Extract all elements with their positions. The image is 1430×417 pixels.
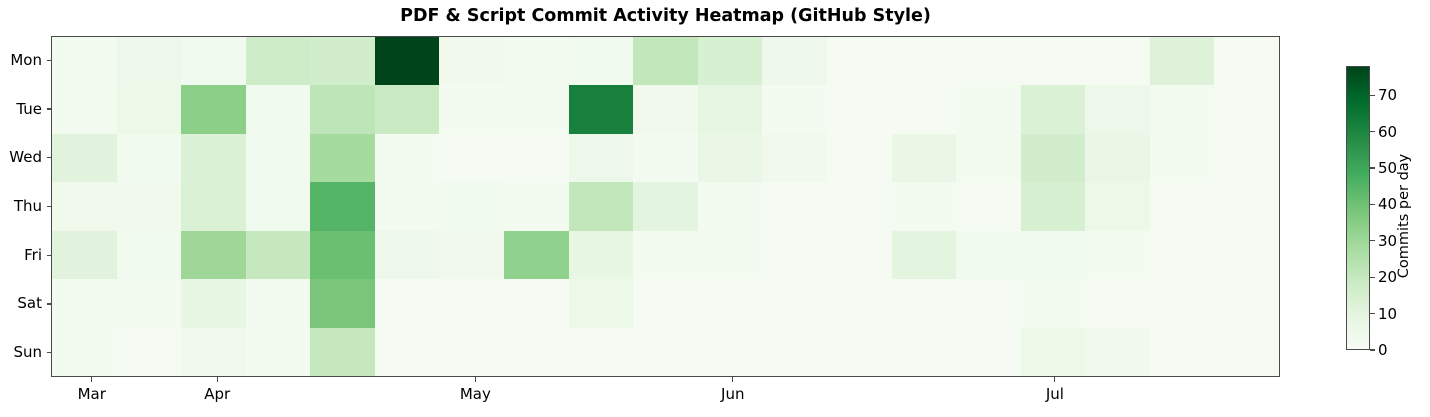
heatmap-cell (956, 37, 1021, 85)
heatmap-cell (569, 182, 634, 230)
heatmap-cell (1214, 182, 1279, 230)
y-tick-label: Wed (9, 150, 51, 165)
heatmap-cell (310, 328, 375, 376)
heatmap-cell (698, 182, 763, 230)
heatmap-cell (504, 328, 569, 376)
heatmap-cell (181, 134, 246, 182)
heatmap-cell (52, 85, 117, 133)
heatmap-cell (504, 182, 569, 230)
heatmap-cell (698, 279, 763, 327)
heatmap-cell (569, 231, 634, 279)
heatmap-cell (117, 328, 182, 376)
heatmap-cell (762, 85, 827, 133)
heatmap-cell (52, 231, 117, 279)
heatmap-cell (633, 37, 698, 85)
heatmap-cell (827, 328, 892, 376)
heatmap-cell (52, 182, 117, 230)
heatmap-cell (439, 231, 504, 279)
heatmap-cell (569, 37, 634, 85)
heatmap-cell (504, 37, 569, 85)
heatmap-cell (117, 85, 182, 133)
heatmap-cell (762, 134, 827, 182)
y-tick-label: Thu (14, 199, 51, 214)
heatmap-cell (698, 231, 763, 279)
heatmap-cell (439, 328, 504, 376)
heatmap-cell (1021, 279, 1086, 327)
colorbar-tick-mark (1370, 131, 1375, 132)
heatmap-cell (1214, 328, 1279, 376)
heatmap-cell (181, 182, 246, 230)
plot-area[interactable] (51, 36, 1280, 377)
heatmap-cell (956, 328, 1021, 376)
heatmap-cell (1085, 134, 1150, 182)
x-tick-mark (1054, 377, 1055, 382)
heatmap-cell (375, 134, 440, 182)
heatmap-cell (310, 37, 375, 85)
heatmap-cell (1085, 328, 1150, 376)
heatmap-cell (1085, 231, 1150, 279)
heatmap-cell (181, 328, 246, 376)
heatmap-cell (956, 231, 1021, 279)
heatmap-cell (117, 279, 182, 327)
heatmap-cell (1150, 182, 1215, 230)
heatmap-cell (633, 182, 698, 230)
x-tick-label: Mar (78, 385, 106, 403)
x-axis: MarAprMayJunJul (51, 377, 1280, 417)
heatmap-cell (504, 134, 569, 182)
heatmap-cell (439, 37, 504, 85)
heatmap-figure: PDF & Script Commit Activity Heatmap (Gi… (0, 0, 1430, 417)
colorbar-tick-mark (1370, 204, 1375, 205)
colorbar-tick-mark (1370, 313, 1375, 314)
heatmap-cell (827, 37, 892, 85)
heatmap-cell (1021, 231, 1086, 279)
heatmap-cell (246, 85, 311, 133)
heatmap-cell (1150, 37, 1215, 85)
colorbar-tick-mark (1370, 240, 1375, 241)
heatmap-grid (52, 37, 1279, 376)
heatmap-cell (375, 37, 440, 85)
heatmap-cell (117, 231, 182, 279)
heatmap-cell (439, 134, 504, 182)
heatmap-cell (569, 328, 634, 376)
heatmap-cell (1085, 279, 1150, 327)
heatmap-cell (956, 182, 1021, 230)
heatmap-cell (569, 134, 634, 182)
heatmap-cell (310, 85, 375, 133)
heatmap-cell (956, 279, 1021, 327)
y-tick-label: Sun (13, 345, 51, 360)
heatmap-cell (827, 85, 892, 133)
colorbar-tick-mark (1370, 349, 1375, 350)
heatmap-cell (1150, 134, 1215, 182)
heatmap-cell (439, 85, 504, 133)
heatmap-cell (633, 328, 698, 376)
heatmap-cell (892, 134, 957, 182)
heatmap-cell (375, 279, 440, 327)
heatmap-cell (246, 328, 311, 376)
heatmap-cell (1021, 85, 1086, 133)
heatmap-cell (310, 231, 375, 279)
colorbar-tick-label: 10 (1378, 305, 1397, 323)
colorbar-axis-label: Commits per day (1396, 154, 1412, 279)
heatmap-cell (375, 182, 440, 230)
heatmap-cell (1214, 231, 1279, 279)
heatmap-cell (439, 182, 504, 230)
heatmap-cell (375, 85, 440, 133)
heatmap-cell (1150, 231, 1215, 279)
heatmap-cell (892, 182, 957, 230)
heatmap-cell (827, 134, 892, 182)
colorbar-tick-label: 70 (1378, 86, 1397, 104)
heatmap-cell (246, 37, 311, 85)
heatmap-cell (1021, 182, 1086, 230)
heatmap-cell (633, 279, 698, 327)
heatmap-cell (1214, 85, 1279, 133)
heatmap-cell (1214, 37, 1279, 85)
colorbar-gradient (1346, 66, 1370, 350)
heatmap-cell (504, 231, 569, 279)
heatmap-cell (1214, 134, 1279, 182)
heatmap-cell (181, 279, 246, 327)
heatmap-cell (439, 279, 504, 327)
colorbar-tick-label: 0 (1378, 341, 1388, 359)
heatmap-cell (246, 279, 311, 327)
x-tick-mark (475, 377, 476, 382)
heatmap-cell (892, 279, 957, 327)
heatmap-cell (1085, 85, 1150, 133)
heatmap-cell (569, 85, 634, 133)
heatmap-cell (762, 328, 827, 376)
heatmap-cell (892, 231, 957, 279)
x-tick-label: Jun (721, 385, 744, 403)
heatmap-cell (633, 134, 698, 182)
heatmap-cell (1150, 279, 1215, 327)
colorbar-tick-label: 60 (1378, 123, 1397, 141)
heatmap-cell (698, 85, 763, 133)
heatmap-cell (310, 182, 375, 230)
heatmap-cell (375, 328, 440, 376)
heatmap-cell (246, 231, 311, 279)
colorbar-tick-label: 50 (1378, 159, 1397, 177)
heatmap-cell (310, 134, 375, 182)
heatmap-cell (117, 182, 182, 230)
heatmap-cell (504, 85, 569, 133)
colorbar-tick-mark (1370, 95, 1375, 96)
heatmap-cell (375, 231, 440, 279)
heatmap-cell (827, 231, 892, 279)
x-tick-label: May (460, 385, 491, 403)
colorbar-tick-mark (1370, 277, 1375, 278)
heatmap-cell (52, 37, 117, 85)
heatmap-cell (762, 182, 827, 230)
heatmap-cell (181, 37, 246, 85)
heatmap-cell (892, 85, 957, 133)
heatmap-cell (762, 279, 827, 327)
heatmap-cell (956, 85, 1021, 133)
colorbar-tick-mark (1370, 167, 1375, 168)
heatmap-cell (310, 279, 375, 327)
heatmap-cell (1021, 134, 1086, 182)
heatmap-cell (956, 134, 1021, 182)
heatmap-cell (117, 134, 182, 182)
heatmap-cell (1150, 85, 1215, 133)
heatmap-cell (698, 328, 763, 376)
heatmap-cell (892, 328, 957, 376)
heatmap-cell (117, 37, 182, 85)
heatmap-cell (1214, 279, 1279, 327)
heatmap-cell (181, 231, 246, 279)
heatmap-cell (698, 134, 763, 182)
heatmap-cell (1085, 37, 1150, 85)
y-axis: MonTueWedThuFriSatSun (0, 36, 51, 377)
heatmap-cell (633, 85, 698, 133)
heatmap-cell (827, 182, 892, 230)
heatmap-cell (762, 231, 827, 279)
heatmap-cell (1021, 328, 1086, 376)
heatmap-cell (52, 279, 117, 327)
heatmap-cell (1085, 182, 1150, 230)
heatmap-cell (52, 328, 117, 376)
colorbar-tick-label: 20 (1378, 268, 1397, 286)
heatmap-cell (246, 134, 311, 182)
heatmap-cell (181, 85, 246, 133)
heatmap-cell (569, 279, 634, 327)
heatmap-cell (1150, 328, 1215, 376)
heatmap-cell (52, 134, 117, 182)
heatmap-cell (698, 37, 763, 85)
x-tick-mark (91, 377, 92, 382)
heatmap-cell (633, 231, 698, 279)
colorbar-tick-label: 40 (1378, 195, 1397, 213)
colorbar[interactable]: 010203040506070 (1346, 66, 1370, 350)
heatmap-cell (892, 37, 957, 85)
x-tick-mark (732, 377, 733, 382)
heatmap-cell (504, 279, 569, 327)
heatmap-cell (1021, 37, 1086, 85)
x-tick-mark (217, 377, 218, 382)
heatmap-cell (827, 279, 892, 327)
x-tick-label: Jul (1046, 385, 1064, 403)
colorbar-tick-label: 30 (1378, 232, 1397, 250)
heatmap-cell (762, 37, 827, 85)
y-tick-label: Mon (10, 53, 51, 68)
chart-title: PDF & Script Commit Activity Heatmap (Gi… (51, 6, 1280, 26)
heatmap-cell (246, 182, 311, 230)
x-tick-label: Apr (204, 385, 230, 403)
